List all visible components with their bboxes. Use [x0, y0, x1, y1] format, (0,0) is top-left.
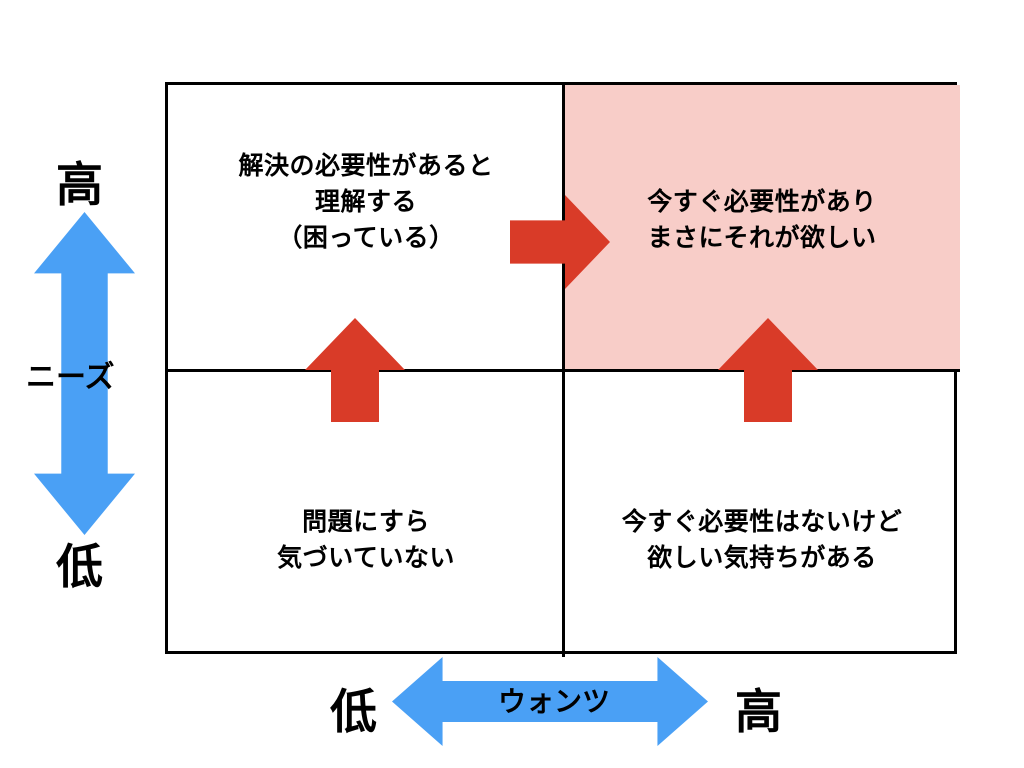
quadrant-bottom-left-text: 問題にすら 気づいていない: [277, 504, 455, 577]
x-axis-title: ウォンツ: [498, 680, 610, 720]
x-axis-low-label: 低: [330, 673, 377, 742]
quadrant-top-left[interactable]: 解決の必要性があると 理解する （困っている）: [168, 85, 564, 371]
y-axis-low-label: 低: [56, 528, 103, 597]
quadrant-bottom-right-text: 今すぐ必要性はないけど 欲しい気持ちがある: [622, 504, 903, 577]
y-axis-title: ニーズ: [26, 352, 115, 396]
matrix-frame: 解決の必要性があると 理解する （困っている） 今すぐ必要性があり まさにそれが…: [165, 82, 957, 654]
quadrant-top-left-text: 解決の必要性があると 理解する （困っている）: [238, 148, 493, 257]
x-axis-high-label: 高: [735, 673, 782, 742]
diagram-canvas: 高 ニーズ 低 低 ウォンツ 高 解決の必要性があると 理解する （困っている）…: [0, 0, 1024, 768]
y-axis-high-label: 高: [56, 146, 103, 215]
matrix-horizontal-divider: [168, 369, 960, 372]
quadrant-top-right-text: 今すぐ必要性があり まさにそれが欲しい: [647, 184, 877, 257]
